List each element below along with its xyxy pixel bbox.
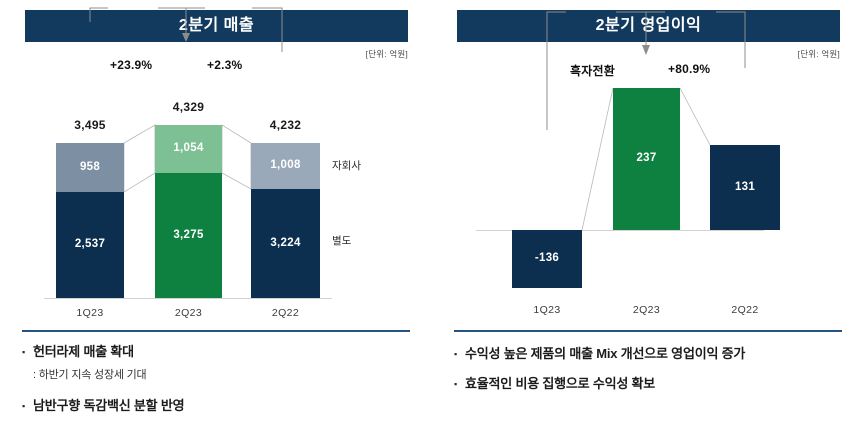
bar-1q23-revenue: 958 2,537	[56, 143, 124, 298]
left-bullet-1-sub: : 하반기 지속 성장세 기대	[33, 366, 422, 384]
panel-operating-profit: 2분기 영업이익 [단위: 억원] 흑자전환 +80.9%	[432, 0, 864, 435]
bar-2q23-op-value: 237	[636, 153, 656, 165]
right-xtick-2q22: 2Q22	[710, 304, 780, 316]
bar-1q23-seg-subsidiary: 958	[56, 143, 124, 192]
bullet-marker-icon: ▪	[22, 396, 33, 416]
bar-2q22-seg-subsidiary: 1,008	[251, 143, 320, 189]
slide-root: 2분기 매출 [단위: 억원] +23.9% +2.3%	[0, 0, 864, 435]
bar-2q23-op-profit: 237	[613, 88, 680, 230]
bar-1q23-op-seg: -136	[512, 230, 582, 288]
right-bullet-2-text: 효율적인 비용 집행으로 수익성 확보	[465, 374, 655, 394]
bar-2q23-subsidiary-value: 1,054	[173, 143, 203, 155]
bar-1q23-seg-standalone: 2,537	[56, 192, 124, 298]
right-bullet-list: ▪ 수익성 높은 제품의 매출 Mix 개선으로 영업이익 증가 ▪ 효율적인 …	[454, 344, 859, 398]
bullet-marker-icon: ▪	[454, 344, 465, 364]
bar-2q22-standalone-value: 3,224	[270, 238, 300, 250]
right-plot-area: -136 237 131 1Q23 2Q23 2Q22	[432, 55, 864, 315]
right-bullet-1-text: 수익성 높은 제품의 매출 Mix 개선으로 영업이익 증가	[465, 344, 745, 364]
right-header-band: 2분기 영업이익	[457, 10, 840, 42]
left-plot-area: 958 2,537 3,495 1,054 3,275 4,329	[0, 55, 432, 315]
right-xtick-1q23: 1Q23	[512, 304, 582, 316]
right-divider	[454, 330, 842, 332]
left-bullet-2: ▪ 남반구향 독감백신 분할 반영	[22, 396, 422, 416]
left-axis-line	[44, 298, 332, 299]
bar-2q23-total: 4,329	[155, 100, 222, 114]
right-header-title: 2분기 영업이익	[596, 18, 702, 34]
bar-2q22-op-seg: 131	[710, 145, 780, 230]
legend-label-subsidiary: 자회사	[332, 158, 361, 173]
right-xtick-2q23: 2Q23	[613, 304, 680, 316]
bullet-marker-icon: ▪	[22, 342, 33, 362]
bar-1q23-op-profit: -136	[512, 230, 582, 288]
bar-1q23-op-value: -136	[535, 253, 559, 265]
left-xtick-2q23: 2Q23	[155, 307, 222, 319]
left-bullet-1-text: 헌터라제 매출 확대	[33, 342, 134, 362]
bullet-marker-icon: ▪	[454, 374, 465, 394]
bar-2q23-standalone-value: 3,275	[173, 230, 203, 242]
bar-1q23-total: 3,495	[56, 118, 124, 132]
bar-2q23-seg-subsidiary: 1,054	[155, 125, 222, 173]
left-header-title: 2분기 매출	[179, 18, 254, 34]
bar-1q23-subsidiary-value: 958	[80, 162, 100, 174]
left-divider	[22, 330, 410, 332]
bar-2q22-op-value: 131	[735, 182, 755, 194]
left-bullet-1: ▪ 헌터라제 매출 확대	[22, 342, 422, 362]
bar-1q23-standalone-value: 2,537	[75, 239, 105, 251]
bar-2q23-revenue: 1,054 3,275	[155, 125, 222, 298]
panel-revenue: 2분기 매출 [단위: 억원] +23.9% +2.3%	[0, 0, 432, 435]
left-xtick-2q22: 2Q22	[251, 307, 320, 319]
bar-2q23-seg-standalone: 3,275	[155, 173, 222, 298]
bar-2q22-subsidiary-value: 1,008	[270, 160, 300, 172]
left-bullet-2-text: 남반구향 독감백신 분할 반영	[33, 396, 184, 416]
bar-2q22-op-profit: 131	[710, 145, 780, 230]
bar-2q23-op-seg: 237	[613, 88, 680, 230]
right-bullet-1: ▪ 수익성 높은 제품의 매출 Mix 개선으로 영업이익 증가	[454, 344, 859, 364]
bar-2q22-total: 4,232	[251, 118, 320, 132]
bar-2q22-revenue: 1,008 3,224	[251, 143, 320, 298]
left-xtick-1q23: 1Q23	[56, 307, 124, 319]
right-bullet-2: ▪ 효율적인 비용 집행으로 수익성 확보	[454, 374, 859, 394]
left-bullet-list: ▪ 헌터라제 매출 확대 : 하반기 지속 성장세 기대 ▪ 남반구향 독감백신…	[22, 342, 422, 420]
left-header-band: 2분기 매출	[25, 10, 408, 42]
legend-label-standalone: 별도	[332, 233, 351, 248]
bar-2q22-seg-standalone: 3,224	[251, 189, 320, 298]
